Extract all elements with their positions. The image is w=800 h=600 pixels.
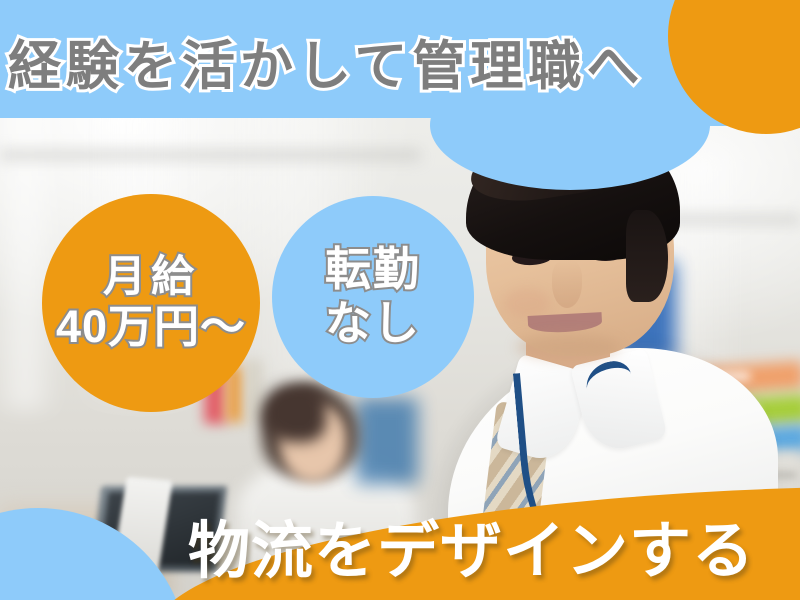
badge-transfer-line1: 転勤 <box>325 246 421 294</box>
badge-transfer-line2: なし <box>325 300 421 348</box>
cheek-highlight <box>504 288 550 318</box>
tagline-text: 物流をデザインする <box>188 500 755 590</box>
badge-transfer: 転勤 なし <box>272 196 474 398</box>
badge-salary-line1: 月給 <box>103 255 199 300</box>
top-banner-region: 経験を活かして管理職へ <box>0 0 800 190</box>
bookshelf-binder <box>246 360 262 422</box>
chin-shadow <box>516 334 620 360</box>
background-colleague-fringe <box>262 384 326 442</box>
badge-salary-line2: 40万円〜 <box>56 304 246 351</box>
recruitment-banner: 経験を活かして管理職へ 月給 40万円〜 転勤 なし 物流をデザインする <box>0 0 800 600</box>
nose <box>552 260 582 308</box>
badge-salary: 月給 40万円〜 <box>42 194 260 412</box>
background-monitor <box>356 398 418 484</box>
headline-text: 経験を活かして管理職へ <box>8 24 688 100</box>
sideburn <box>626 210 668 302</box>
